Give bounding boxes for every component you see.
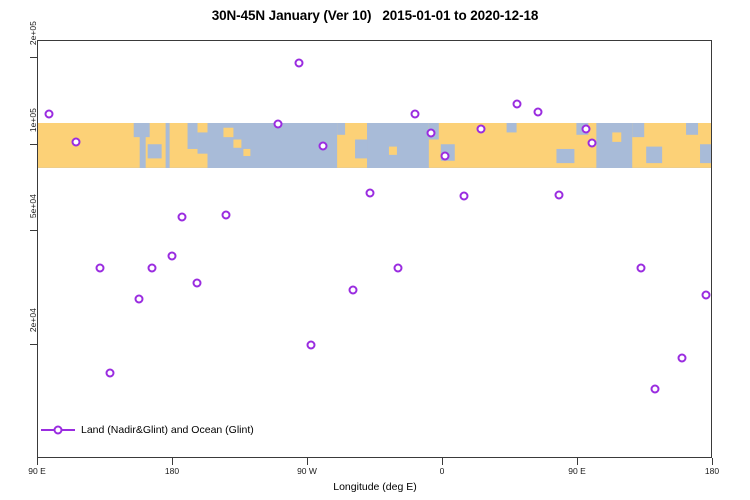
y-tick-1 — [30, 144, 37, 145]
plot-inner — [38, 41, 711, 457]
data-point — [134, 294, 143, 303]
legend-circle-icon — [54, 426, 63, 435]
ocean-notch-12 — [632, 123, 644, 137]
data-point — [178, 212, 187, 221]
island-2 — [243, 149, 250, 156]
data-point — [394, 264, 403, 273]
ocean-notch-9 — [507, 123, 517, 132]
chart-title: 30N-45N January (Ver 10) 2015-01-01 to 2… — [0, 8, 750, 23]
ocean-notch-6 — [355, 140, 367, 159]
land-band-0 — [38, 123, 140, 168]
data-point — [167, 251, 176, 260]
x-tick-label-4: 90 E — [568, 466, 586, 476]
data-point — [410, 109, 419, 118]
data-point — [319, 141, 328, 150]
data-point — [71, 138, 80, 147]
x-tick-5 — [712, 458, 713, 465]
ocean-notch-1 — [148, 144, 162, 158]
data-point — [440, 152, 449, 161]
data-point — [587, 139, 596, 148]
data-point — [677, 354, 686, 363]
data-point — [637, 264, 646, 273]
island-3 — [612, 132, 621, 141]
x-axis-title: Longitude (deg E) — [0, 481, 750, 493]
world-map-band — [38, 123, 711, 168]
data-point — [460, 192, 469, 201]
data-point — [307, 340, 316, 349]
y-tick-2 — [30, 230, 37, 231]
data-point — [427, 128, 436, 137]
x-tick-3 — [442, 458, 443, 465]
ocean-notch-4 — [207, 123, 215, 140]
legend-marker-line — [41, 429, 75, 431]
data-point — [295, 59, 304, 68]
x-tick-label-1: 180 — [165, 466, 179, 476]
data-point — [701, 290, 710, 299]
chart-legend: Land (Nadir&Glint) and Ocean (Glint) — [41, 424, 254, 436]
ocean-notch-2 — [188, 123, 198, 149]
y-tick-3 — [30, 344, 37, 345]
ocean-notch-14 — [686, 123, 698, 135]
x-tick-0 — [37, 458, 38, 465]
ocean-notch-0 — [134, 123, 150, 137]
y-tick-0 — [30, 57, 37, 58]
y-axis-title: N Total — [0, 201, 2, 234]
data-point — [148, 264, 157, 273]
x-tick-label-5: 180 — [705, 466, 719, 476]
x-tick-label-2: 90 W — [297, 466, 317, 476]
data-point — [365, 188, 374, 197]
legend-label: Land (Nadir&Glint) and Ocean (Glint) — [81, 424, 254, 436]
plot-area — [37, 40, 712, 458]
data-point — [106, 368, 115, 377]
x-tick-1 — [172, 458, 173, 465]
x-tick-4 — [577, 458, 578, 465]
data-point — [221, 210, 230, 219]
data-point — [650, 385, 659, 394]
data-point — [512, 99, 521, 108]
data-point — [533, 108, 542, 117]
data-point — [554, 190, 563, 199]
chart-canvas: 30N-45N January (Ver 10) 2015-01-01 to 2… — [0, 0, 750, 500]
x-tick-label-0: 90 E — [28, 466, 46, 476]
ocean-notch-5 — [337, 123, 345, 135]
island-4 — [389, 147, 397, 155]
island-1 — [233, 140, 241, 148]
data-point — [581, 125, 590, 134]
map-landmasses-icon — [38, 123, 711, 168]
data-point — [44, 109, 53, 118]
data-point — [349, 286, 358, 295]
data-point — [193, 278, 202, 287]
ocean-notch-15 — [700, 144, 711, 163]
ocean-notch-13 — [646, 147, 662, 164]
data-point — [274, 120, 283, 129]
x-tick-label-3: 0 — [440, 466, 445, 476]
x-tick-2 — [307, 458, 308, 465]
island-0 — [223, 128, 233, 137]
data-point — [95, 264, 104, 273]
data-point — [476, 125, 485, 134]
ocean-notch-10 — [556, 149, 574, 163]
